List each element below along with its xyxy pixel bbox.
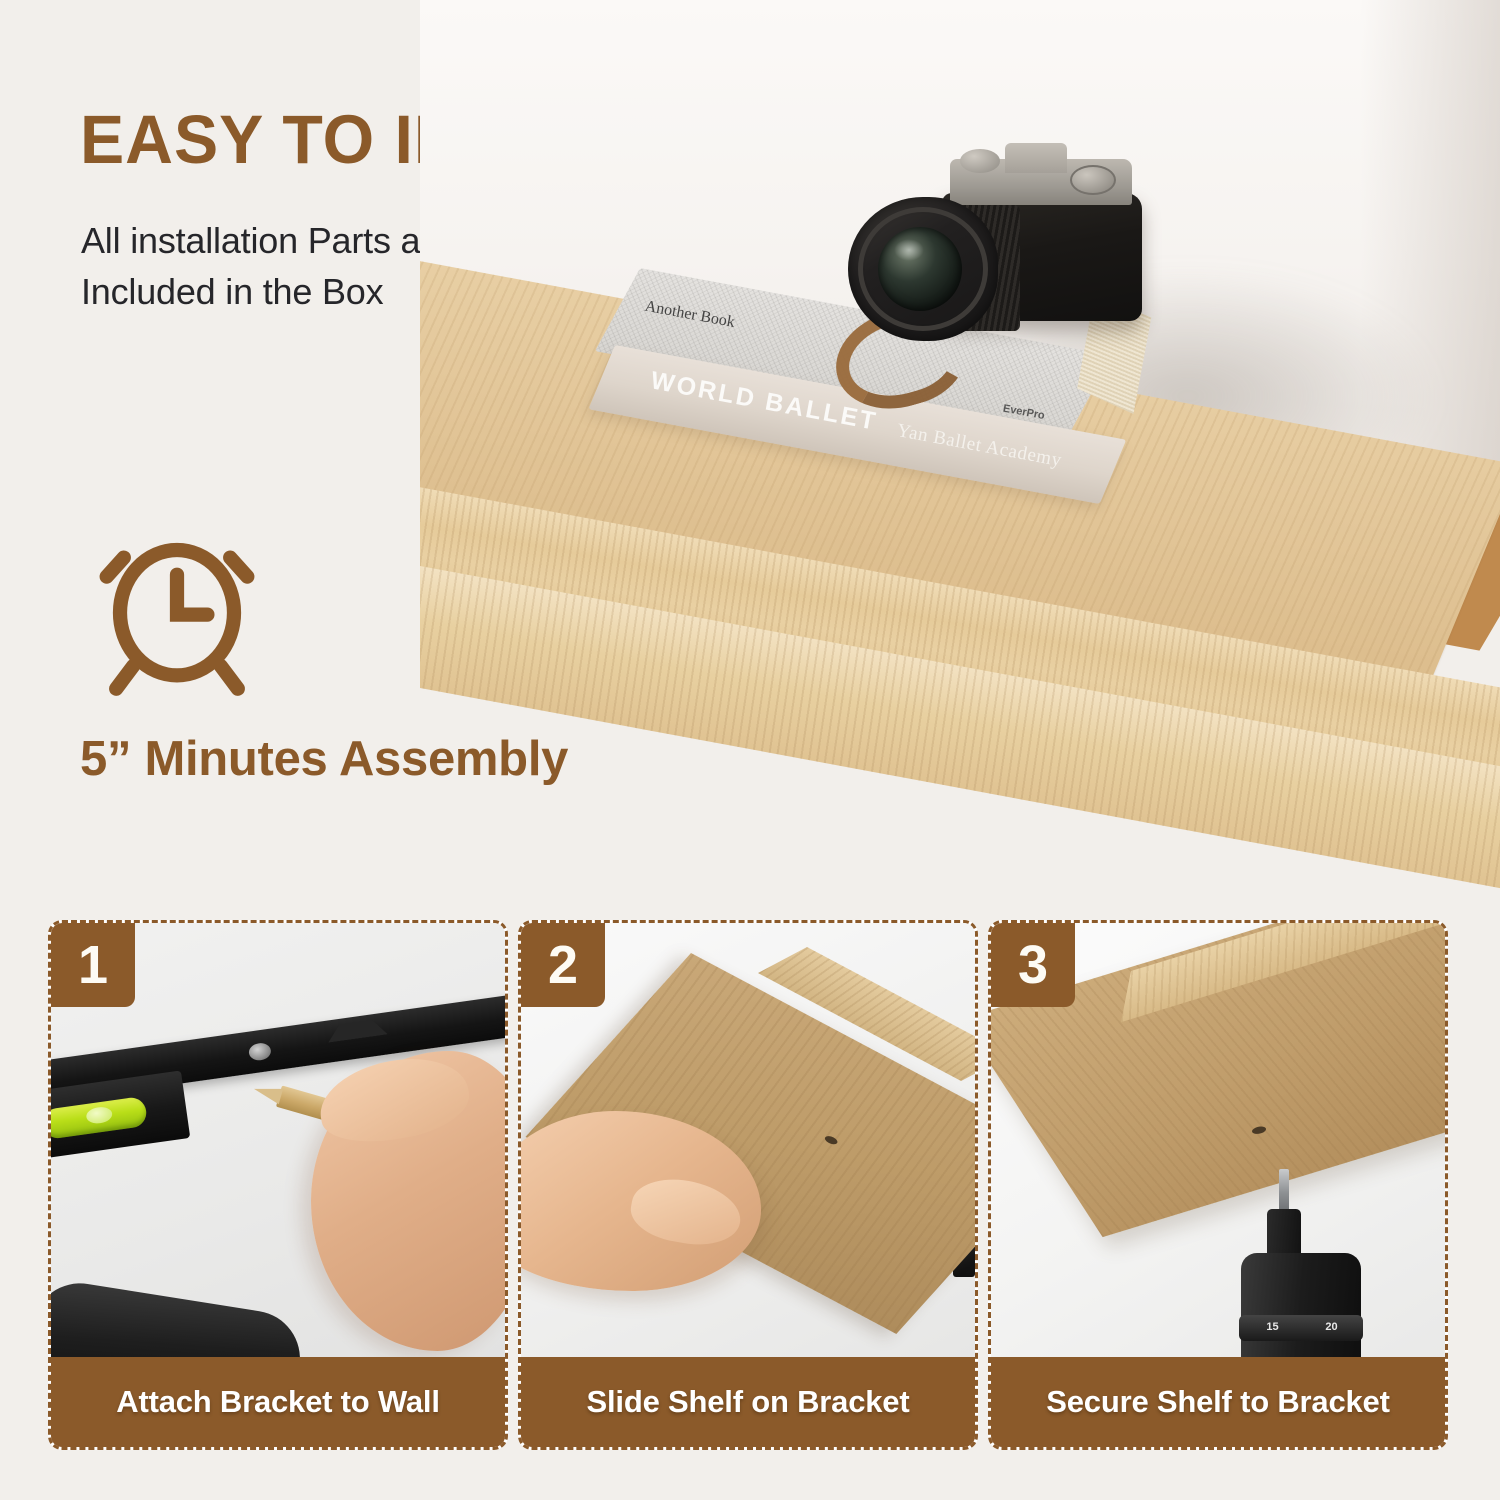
level-bubble-vial bbox=[51, 1096, 148, 1140]
bracket-notch bbox=[326, 1018, 388, 1042]
installation-steps: 1 Attach Bracket to Wall 2 Slide Shelf o… bbox=[0, 905, 1500, 1465]
step-1-number: 1 bbox=[51, 923, 135, 1007]
alarm-clock-icon bbox=[82, 512, 272, 702]
hero-subtitle-line-2: Included in the Box bbox=[81, 266, 452, 317]
shelf-screw-hole bbox=[1250, 1125, 1267, 1135]
camera-viewfinder bbox=[1005, 143, 1067, 173]
step-2-caption: Slide Shelf on Bracket bbox=[521, 1357, 975, 1447]
hero-subtitle-line-1: All installation Parts are bbox=[81, 215, 452, 266]
step-panel-2: 2 Slide Shelf on Bracket bbox=[518, 920, 978, 1450]
step-3-caption: Secure Shelf to Bracket bbox=[991, 1357, 1445, 1447]
bracket-screw-hole bbox=[248, 1042, 272, 1062]
book-upper-title: Another Book bbox=[643, 298, 736, 332]
drill-body bbox=[1241, 1253, 1361, 1363]
step-1-caption: Attach Bracket to Wall bbox=[51, 1357, 505, 1447]
drill-mark-20: 20 bbox=[1325, 1321, 1337, 1333]
step-2-number: 2 bbox=[521, 923, 605, 1007]
book-spine-subtitle: Yan Ballet Academy bbox=[895, 420, 1063, 472]
camera-lens-glass bbox=[878, 227, 962, 311]
shelf-rod-hole-1 bbox=[823, 1135, 839, 1146]
camera bbox=[830, 135, 1150, 385]
camera-dial-right bbox=[1070, 165, 1116, 195]
step-panel-1: 1 Attach Bracket to Wall bbox=[48, 920, 508, 1450]
step-panel-3: 15 20 3 Secure Shelf to Bracket bbox=[988, 920, 1448, 1450]
floating-shelf: Another Book EverPro WORLD BALLET Yan Ba… bbox=[420, 250, 1500, 900]
product-photo: Another Book EverPro WORLD BALLET Yan Ba… bbox=[420, 0, 1500, 900]
step-3-number: 3 bbox=[991, 923, 1075, 1007]
drill-torque-marks: 15 20 bbox=[1243, 1321, 1361, 1333]
thumb bbox=[626, 1172, 745, 1252]
camera-dial-left bbox=[960, 149, 1000, 173]
hero-section: EASY TO INSTALL All installation Parts a… bbox=[0, 0, 1500, 900]
drill-mark-15: 15 bbox=[1266, 1321, 1278, 1333]
hero-subtitle: All installation Parts are Included in t… bbox=[81, 215, 452, 317]
camera-lens bbox=[848, 197, 998, 341]
